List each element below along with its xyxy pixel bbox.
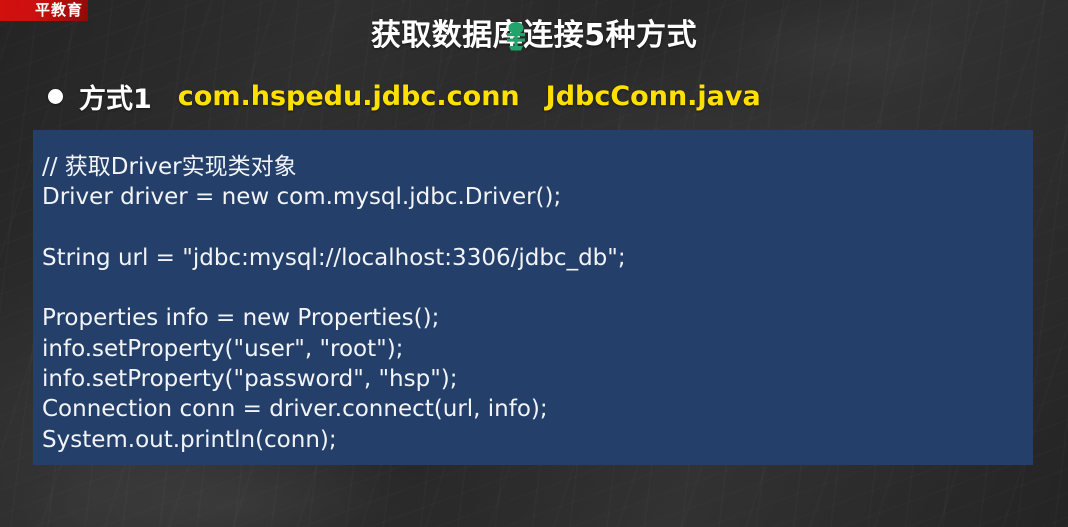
subtitle-method-label: 方式1: [79, 77, 152, 116]
code-line: Properties info = new Properties();: [42, 303, 1033, 333]
slide-canvas: 平教育 获取数据库连接5种方式 方式1 com.hspedu.jdbc.conn…: [0, 0, 1068, 527]
brand-banner-label: 平教育: [35, 3, 83, 18]
subtitle-row: 方式1 com.hspedu.jdbc.conn JdbcConn.java: [48, 77, 761, 116]
brand-banner: 平教育: [0, 0, 88, 21]
code-line-blank: [42, 273, 1033, 303]
code-line: String url = "jdbc:mysql://localhost:330…: [42, 243, 1033, 273]
code-line: Connection conn = driver.connect(url, in…: [42, 394, 1033, 424]
code-block: // 获取Driver实现类对象 Driver driver = new com…: [33, 130, 1033, 465]
subtitle-file-name: JdbcConn.java: [546, 81, 761, 112]
code-line: info.setProperty("user", "root");: [42, 334, 1033, 364]
subtitle-package-path: com.hspedu.jdbc.conn: [178, 81, 520, 112]
code-line: info.setProperty("password", "hsp");: [42, 364, 1033, 394]
code-line-blank: [42, 213, 1033, 243]
code-line: System.out.println(conn);: [42, 425, 1033, 455]
bullet-dot-icon: [48, 89, 63, 104]
slide-title: 获取数据库连接5种方式: [0, 10, 1068, 54]
code-line: // 获取Driver实现类对象: [42, 152, 1033, 182]
code-line: Driver driver = new com.mysql.jdbc.Drive…: [42, 182, 1033, 212]
